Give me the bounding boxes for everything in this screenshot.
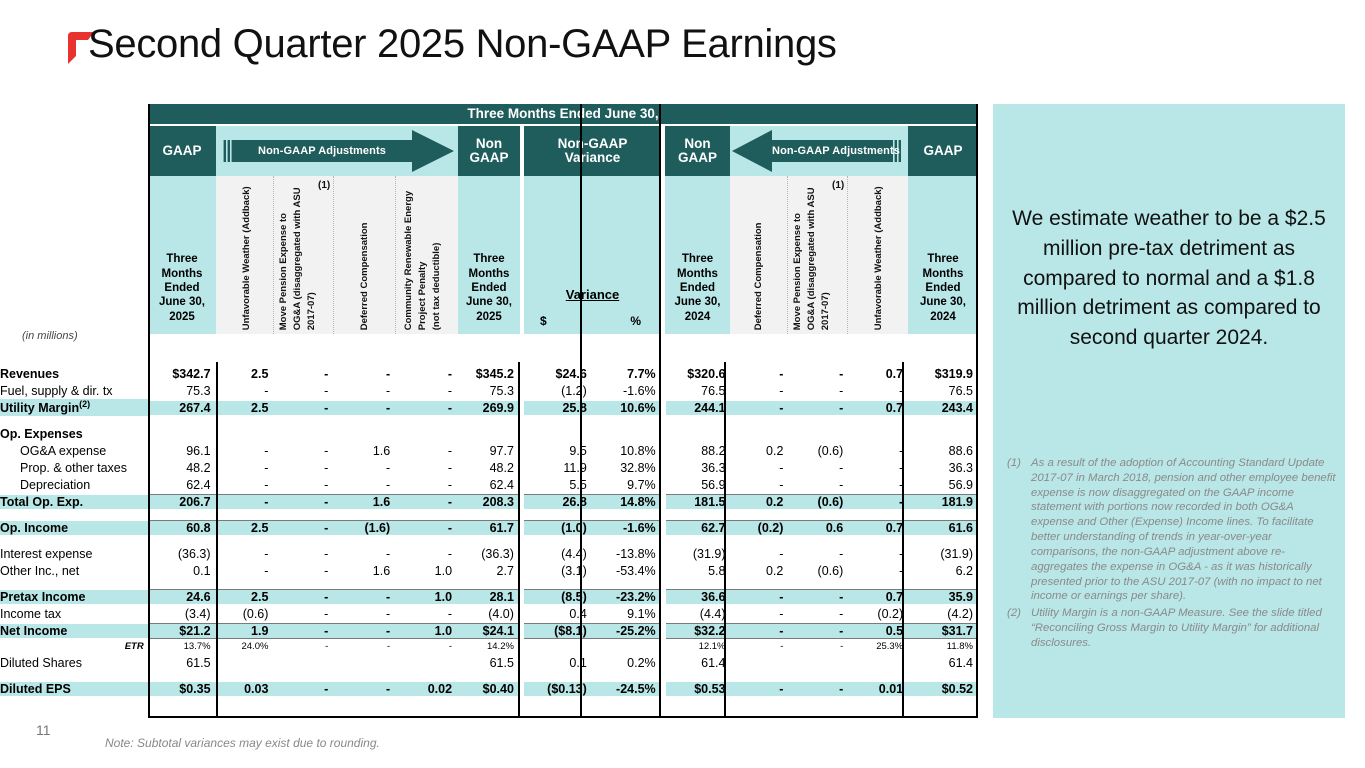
vh-r1-0: Move Pension Expense to	[792, 213, 803, 330]
table-cell: 267.4	[148, 401, 216, 415]
table-spacer-row	[0, 416, 978, 425]
group-variance: Non-GAAP Variance	[524, 126, 661, 176]
page-number: 11	[36, 722, 51, 738]
g24-l5: 2024	[920, 310, 966, 324]
table-cell: -	[848, 461, 908, 475]
table-cell: -	[788, 589, 848, 604]
table-cell: -	[273, 682, 333, 696]
n24-l3: Ended	[674, 281, 720, 295]
table-cell: -	[333, 367, 395, 381]
table-row: Op. Income60.82.5-(1.6)-61.7(1.0)-1.6%62…	[0, 519, 978, 536]
table-cell: 88.6	[908, 444, 978, 458]
table-cell: (36.3)	[148, 547, 216, 561]
row-label: Diluted Shares	[0, 656, 148, 670]
table-cell: (36.3)	[457, 547, 519, 561]
table-cell: -	[273, 641, 333, 652]
table-cell: -	[788, 367, 848, 381]
table-cell: -	[273, 494, 333, 509]
table-group-header-row: GAAP Non-GAAP Adjustments Non GAAP Non-G…	[148, 126, 978, 176]
col-header-pension-2024: Move Pension Expense to OG&A (disaggrega…	[788, 176, 848, 334]
table-cell: ($8.1)	[524, 623, 592, 639]
table-cell: -	[788, 461, 848, 475]
frame-line-2	[216, 362, 218, 718]
table-cell: 12.1%	[666, 641, 731, 652]
table-cell: $0.40	[457, 682, 519, 696]
row-label: OG&A expense	[0, 444, 148, 458]
table-cell: $0.53	[666, 682, 731, 696]
frame-bottom	[148, 716, 978, 718]
vh-r0-0: Deferred Compensation	[753, 222, 764, 330]
table-cell: 60.8	[148, 520, 216, 535]
table-cell: -1.6%	[592, 384, 661, 398]
row-label: Revenues	[0, 367, 148, 381]
table-cell: -1.6%	[592, 520, 661, 535]
table-cell: 36.3	[908, 461, 978, 475]
table-cell: -	[731, 682, 789, 696]
table-cell: 2.5	[216, 401, 274, 415]
footnote-marker-1-left: (1)	[318, 180, 330, 191]
frame-line-4	[580, 104, 582, 718]
table-cell: -	[273, 547, 333, 561]
vh-l3-2: (not tax deductible)	[431, 242, 442, 330]
table-cell: 0.1	[524, 656, 592, 670]
table-cell: 5.5	[524, 478, 592, 492]
table-cell: $31.7	[908, 623, 978, 639]
table-cell: -	[848, 444, 908, 458]
table-cell: (4.4)	[524, 547, 592, 561]
table-cell: -	[848, 384, 908, 398]
row-label: Diluted EPS	[0, 682, 148, 696]
table-cell: -	[333, 478, 395, 492]
group-adjustments-right-label: Non-GAAP Adjustments	[730, 145, 908, 157]
row-label: Pretax Income	[0, 590, 148, 604]
table-cell: 61.5	[148, 656, 216, 670]
table-cell: -	[273, 444, 333, 458]
table-cell: 35.9	[908, 589, 978, 604]
table-cell: -	[273, 623, 333, 639]
table-spacer-row	[0, 536, 978, 545]
n24-l4: June 30,	[674, 295, 720, 309]
table-cell: (0.2)	[731, 520, 789, 535]
table-cell: -	[273, 564, 333, 578]
vh-l1-0: Move Pension Expense to	[278, 213, 289, 330]
n24-l5: 2024	[674, 310, 720, 324]
table-cell: 0.7	[848, 589, 908, 604]
table-cell: -	[731, 401, 789, 415]
col-header-gaap-2025: Three Months Ended June 30, 2025	[148, 176, 216, 334]
table-cell: 1.0	[395, 589, 457, 604]
table-cell: 61.6	[908, 520, 978, 535]
table-cell: 0.03	[216, 682, 274, 696]
table-cell: -	[395, 478, 457, 492]
table-cell: $319.9	[908, 367, 978, 381]
p25-l2: Months	[159, 267, 205, 281]
col-header-weather-2024: Unfavorable Weather (Addback)	[848, 176, 908, 334]
group-adjustments-right: Non-GAAP Adjustments	[730, 126, 908, 176]
table-cell: 2.5	[216, 367, 274, 381]
group-gaap-right: GAAP	[908, 126, 978, 176]
table-cell: 76.5	[908, 384, 978, 398]
table-cell: -24.5%	[592, 682, 661, 696]
table-cell: 10.8%	[592, 444, 661, 458]
table-row: Depreciation62.4----62.45.59.7%56.9---56…	[0, 476, 978, 493]
table-cell: -	[216, 564, 274, 578]
footnote-marker-1-right: (1)	[832, 180, 844, 191]
vh-r2-0: Unfavorable Weather (Addback)	[873, 186, 884, 330]
table-cell: -	[273, 478, 333, 492]
frame-line-6	[724, 362, 726, 718]
footnotes-list: (1)As a result of the adoption of Accoun…	[1007, 456, 1337, 653]
group-nongaap-right: Non GAAP	[665, 126, 730, 176]
table-cell: 1.0	[395, 564, 457, 578]
col-header-weather-2025: Unfavorable Weather (Addback)	[216, 176, 274, 334]
table-cell: 243.4	[908, 401, 978, 415]
table-cell: -	[333, 641, 395, 652]
table-cell: (0.6)	[788, 564, 848, 578]
table-cell: 13.7%	[148, 641, 216, 652]
table-band-title: Three Months Ended June 30,	[148, 104, 978, 124]
table-cell: -	[273, 401, 333, 415]
table-cell: -	[395, 384, 457, 398]
table-cell: -	[731, 461, 789, 475]
table-row: Utility Margin(2)267.42.5---269.925.810.…	[0, 399, 978, 416]
variance-dollar-label: $	[540, 314, 547, 328]
table-cell: -	[395, 547, 457, 561]
table-cell: (0.6)	[216, 607, 274, 621]
table-row: Revenues$342.72.5---$345.2$24.67.7%$320.…	[0, 365, 978, 382]
table-cell: 61.7	[457, 520, 519, 535]
table-cell: 25.3%	[848, 641, 908, 652]
table-cell: $342.7	[148, 367, 216, 381]
row-label: Other Inc., net	[0, 564, 148, 578]
table-cell: -	[731, 607, 789, 621]
table-cell: -	[395, 641, 457, 652]
table-cell: -	[848, 494, 908, 509]
row-label: ETR	[0, 641, 148, 652]
table-cell: (1.2)	[524, 384, 592, 398]
footnote-number: (2)	[1007, 606, 1031, 650]
variance-label: Variance	[524, 287, 661, 302]
vh-r1-1: OG&A (disaggregated with ASU	[806, 187, 817, 330]
col-header-variance: Variance $ %	[524, 176, 661, 334]
table-cell: 11.9	[524, 461, 592, 475]
commentary-panel: We estimate weather to be a $2.5 million…	[993, 104, 1345, 718]
table-cell: -	[273, 589, 333, 604]
table-cell: 9.1%	[592, 607, 661, 621]
row-label: Income tax	[0, 607, 148, 621]
table-cell: 206.7	[148, 494, 216, 509]
table-cell: -	[395, 494, 457, 509]
table-cell: 1.6	[333, 494, 395, 509]
table-row: Prop. & other taxes48.2----48.211.932.8%…	[0, 459, 978, 476]
row-label-footnote-ref: (2)	[79, 399, 90, 409]
group-nongaap-left-l1: Non	[476, 137, 502, 151]
table-cell: (31.9)	[908, 547, 978, 561]
table-cell: 181.5	[666, 494, 731, 509]
table-cell: -	[788, 607, 848, 621]
table-row: ETR13.7%24.0%---14.2%12.1%--25.3%11.8%	[0, 639, 978, 654]
units-label: (in millions)	[22, 330, 78, 342]
table-cell: 5.8	[666, 564, 731, 578]
table-cell: -	[788, 547, 848, 561]
table-cell: -	[333, 623, 395, 639]
table-cell: (0.6)	[788, 494, 848, 509]
table-row: Fuel, supply & dir. tx75.3----75.3(1.2)-…	[0, 382, 978, 399]
group-adjustments-left-label: Non-GAAP Adjustments	[216, 145, 458, 157]
table-cell: 1.6	[333, 444, 395, 458]
group-nongaap-left-l2: GAAP	[469, 151, 508, 165]
table-cell: 24.0%	[216, 641, 274, 652]
group-adjustments-left: Non-GAAP Adjustments	[216, 126, 458, 176]
table-cell: -	[395, 607, 457, 621]
table-spacer-row	[0, 510, 978, 519]
table-cell: -	[333, 682, 395, 696]
n24-l2: Months	[674, 267, 720, 281]
financial-table: Three Months Ended June 30, GAAP Non-GAA…	[148, 104, 978, 334]
table-cell: 7.7%	[592, 367, 661, 381]
table-cell: (3.4)	[148, 607, 216, 621]
col-header-defcomp-2025: Deferred Compensation	[334, 176, 396, 334]
group-variance-l2: Variance	[565, 151, 621, 165]
table-cell: 25.8	[524, 401, 592, 415]
table-cell: 1.6	[333, 564, 395, 578]
table-row: OG&A expense96.1--1.6-97.79.510.8%88.20.…	[0, 442, 978, 459]
table-cell: -	[216, 547, 274, 561]
table-cell: -	[216, 461, 274, 475]
table-cell: -	[788, 641, 848, 652]
table-cell: 244.1	[666, 401, 731, 415]
frame-line-1	[148, 104, 150, 718]
table-cell: 9.5	[524, 444, 592, 458]
table-cell: -	[333, 384, 395, 398]
table-cell: -	[731, 367, 789, 381]
table-cell: 61.4	[666, 656, 731, 670]
table-cell: -	[788, 623, 848, 639]
footnote-number: (1)	[1007, 456, 1031, 604]
g24-l2: Months	[920, 267, 966, 281]
table-cell: $24.1	[457, 623, 519, 639]
row-label: Utility Margin(2)	[0, 399, 148, 415]
table-cell: 2.7	[457, 564, 519, 578]
table-cell: -	[216, 478, 274, 492]
table-column-header-row: Three Months Ended June 30, 2025 Unfavor…	[148, 176, 978, 334]
table-cell: 0.2	[731, 444, 789, 458]
table-cell: -	[395, 367, 457, 381]
table-cell: -	[731, 623, 789, 639]
table-cell: 1.0	[395, 623, 457, 639]
table-cell: 0.7	[848, 367, 908, 381]
table-cell: (0.6)	[788, 444, 848, 458]
table-cell: 76.5	[666, 384, 731, 398]
table-cell: (1.0)	[524, 520, 592, 535]
table-cell: 1.9	[216, 623, 274, 639]
table-cell: 0.6	[788, 520, 848, 535]
group-nongaap-left: Non GAAP	[458, 126, 520, 176]
col-header-gaap-2024: Three Months Ended June 30, 2024	[908, 176, 978, 334]
table-cell: 75.3	[457, 384, 519, 398]
table-cell: -	[333, 589, 395, 604]
table-cell: -	[788, 384, 848, 398]
table-cell: -	[273, 520, 333, 535]
table-cell: -13.8%	[592, 547, 661, 561]
table-cell: 61.4	[908, 656, 978, 670]
table-row: Income tax(3.4)(0.6)---(4.0)0.49.1%(4.4)…	[0, 605, 978, 622]
col-header-nongaap-2024: Three Months Ended June 30, 2024	[665, 176, 730, 334]
table-cell: 62.4	[457, 478, 519, 492]
row-label: Interest expense	[0, 547, 148, 561]
footnote-item: (1)As a result of the adoption of Accoun…	[1007, 456, 1337, 604]
table-cell: -	[788, 478, 848, 492]
col-header-nongaap-2025: Three Months Ended June 30, 2025	[458, 176, 520, 334]
frame-line-5	[659, 104, 661, 718]
table-cell: 48.2	[457, 461, 519, 475]
group-variance-l1: Non-GAAP	[558, 137, 628, 151]
table-cell: -	[273, 461, 333, 475]
row-label: Op. Expenses	[0, 427, 148, 441]
footnote-text: As a result of the adoption of Accountin…	[1031, 456, 1337, 604]
table-cell: 14.2%	[457, 641, 519, 652]
table-cell: 36.3	[666, 461, 731, 475]
table-cell: 0.02	[395, 682, 457, 696]
variance-percent-label: %	[630, 314, 641, 328]
p25-l1: Three	[159, 252, 205, 266]
table-cell: 0.2	[731, 564, 789, 578]
row-label: Fuel, supply & dir. tx	[0, 384, 148, 398]
table-row: Diluted Shares61.561.50.10.2%61.461.4	[0, 654, 978, 671]
p25-l4: June 30,	[159, 295, 205, 309]
vh-l0-0: Unfavorable Weather (Addback)	[241, 186, 252, 330]
table-cell: 2.5	[216, 589, 274, 604]
table-row: Other Inc., net0.1--1.61.02.7(3.1)-53.4%…	[0, 562, 978, 579]
table-cell: 269.9	[457, 401, 519, 415]
table-cell: -	[848, 564, 908, 578]
table-cell: 24.6	[148, 589, 216, 604]
table-cell: (4.2)	[908, 607, 978, 621]
table-cell: ($0.13)	[524, 682, 592, 696]
table-cell: -25.2%	[592, 623, 661, 639]
table-cell: -	[333, 461, 395, 475]
table-cell: -	[216, 494, 274, 509]
col-header-defcomp-2024: Deferred Compensation	[730, 176, 788, 334]
table-cell: 61.5	[457, 656, 519, 670]
table-cell: -	[395, 520, 457, 535]
table-cell: 0.2	[731, 494, 789, 509]
table-body: Revenues$342.72.5---$345.2$24.67.7%$320.…	[0, 365, 978, 697]
table-cell: 28.1	[457, 589, 519, 604]
g24-l4: June 30,	[920, 295, 966, 309]
table-spacer-row	[0, 579, 978, 588]
table-row: Op. Expenses	[0, 425, 978, 442]
n24-l1: Three	[674, 252, 720, 266]
page-title: Second Quarter 2025 Non-GAAP Earnings	[88, 22, 837, 67]
table-cell: 48.2	[148, 461, 216, 475]
table-row: Interest expense(36.3)----(36.3)(4.4)-13…	[0, 545, 978, 562]
table-cell: $0.52	[908, 682, 978, 696]
col-header-renewable-2025: Community Renewable Energy Project Penal…	[396, 176, 458, 334]
table-cell: 62.7	[666, 520, 731, 535]
frame-line-8	[976, 104, 978, 718]
table-cell: 36.6	[666, 589, 731, 604]
table-cell: 0.5	[848, 623, 908, 639]
row-label: Op. Income	[0, 521, 148, 535]
table-cell: (3.1)	[524, 564, 592, 578]
g24-l1: Three	[920, 252, 966, 266]
table-cell: 26.8	[524, 494, 592, 509]
footnote-item: (2)Utility Margin is a non-GAAP Measure.…	[1007, 606, 1337, 650]
table-cell: -23.2%	[592, 589, 661, 604]
group-gaap-left: GAAP	[148, 126, 216, 176]
table-cell: -	[395, 401, 457, 415]
table-cell: 11.8%	[908, 641, 978, 652]
table-cell: -	[333, 401, 395, 415]
table-cell: 62.4	[148, 478, 216, 492]
table-spacer-row	[0, 671, 978, 680]
table-cell: -	[273, 367, 333, 381]
table-cell: 56.9	[908, 478, 978, 492]
col-header-pension-2025: Move Pension Expense to OG&A (disaggrega…	[274, 176, 334, 334]
table-row: Net Income$21.21.9--1.0$24.1($8.1)-25.2%…	[0, 622, 978, 639]
table-cell: 96.1	[148, 444, 216, 458]
table-cell: -	[788, 401, 848, 415]
table-cell: -	[731, 478, 789, 492]
table-cell: (4.0)	[457, 607, 519, 621]
table-cell: -	[333, 547, 395, 561]
table-cell: -	[731, 641, 789, 652]
table-cell: -	[273, 384, 333, 398]
table-row: Diluted EPS$0.350.03--0.02$0.40($0.13)-2…	[0, 680, 978, 697]
table-cell: 0.01	[848, 682, 908, 696]
n25-l1: Three	[466, 252, 512, 266]
table-cell: 208.3	[457, 494, 519, 509]
table-cell: $0.35	[148, 682, 216, 696]
table-cell: (4.4)	[666, 607, 731, 621]
table-cell: 2.5	[216, 520, 274, 535]
table-cell: -	[395, 461, 457, 475]
row-label: Prop. & other taxes	[0, 461, 148, 475]
table-cell: -	[731, 384, 789, 398]
table-cell: $24.6	[524, 367, 592, 381]
table-cell: (8.5)	[524, 589, 592, 604]
table-cell: 0.7	[848, 401, 908, 415]
table-cell: -	[333, 607, 395, 621]
n25-l3: Ended	[466, 281, 512, 295]
table-cell: -	[273, 607, 333, 621]
table-row: Pretax Income24.62.5--1.028.1(8.5)-23.2%…	[0, 588, 978, 605]
table-cell: -	[216, 384, 274, 398]
row-label: Net Income	[0, 624, 148, 638]
row-label: Depreciation	[0, 478, 148, 492]
frame-line-3	[518, 362, 520, 718]
n25-l5: 2025	[466, 310, 512, 324]
table-cell: (1.6)	[333, 520, 395, 535]
table-cell: 32.8%	[592, 461, 661, 475]
p25-l3: Ended	[159, 281, 205, 295]
table-cell: -	[395, 444, 457, 458]
table-cell: -	[731, 589, 789, 604]
table-cell: 6.2	[908, 564, 978, 578]
vh-l1-1: OG&A (disaggregated with ASU	[292, 187, 303, 330]
table-cell: 75.3	[148, 384, 216, 398]
table-cell: 56.9	[666, 478, 731, 492]
n25-l2: Months	[466, 267, 512, 281]
table-cell: (31.9)	[666, 547, 731, 561]
vh-l3-0: Community Renewable Energy	[403, 191, 414, 330]
table-cell: 9.7%	[592, 478, 661, 492]
table-cell: $345.2	[457, 367, 519, 381]
table-cell: -	[848, 478, 908, 492]
rounding-note: Note: Subtotal variances may exist due t…	[105, 736, 380, 750]
table-cell: 0.2%	[592, 656, 661, 670]
